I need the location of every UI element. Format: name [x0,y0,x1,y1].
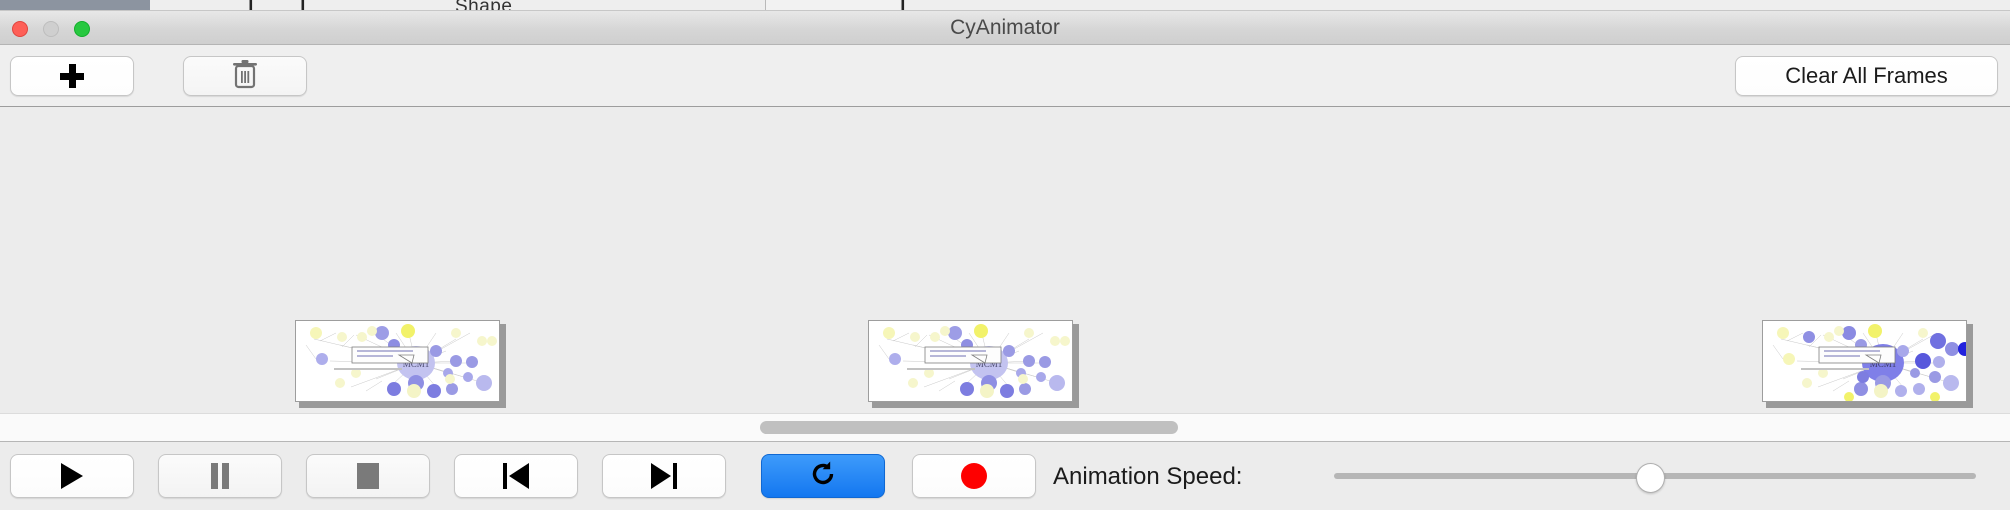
record-button[interactable] [912,454,1036,498]
delete-frame-button[interactable] [183,56,307,96]
loop-button[interactable] [761,454,885,498]
clear-all-frames-label: Clear All Frames [1785,63,1948,89]
scrollbar-thumb[interactable] [760,421,1178,434]
clear-all-frames-button[interactable]: Clear All Frames [1735,56,1998,96]
frame-thumbnail[interactable]: MCM1 [1762,320,1973,408]
add-frame-button[interactable] [10,56,134,96]
stop-icon [357,463,379,489]
playback-toolbar: Animation Speed: [0,441,2010,510]
loop-refresh-icon [808,459,838,494]
network-graph-preview: MCM1 [1763,321,1967,402]
play-icon [61,463,83,489]
stop-button[interactable] [306,454,430,498]
animation-speed-label: Animation Speed: [1053,442,1242,510]
skip-backward-icon [503,463,529,489]
skip-to-end-button[interactable] [602,454,726,498]
title-bar: CyAnimator [0,11,2010,45]
frame-thumbnail[interactable]: MCM1 [295,320,506,408]
trash-icon [232,59,258,94]
plus-icon [60,64,84,88]
pause-button[interactable] [158,454,282,498]
cyanimator-window: | | | Shape CyAnimator [0,0,2010,510]
pause-icon [210,463,230,489]
slider-thumb[interactable] [1636,463,1665,493]
network-graph-preview: MCM1 [869,321,1073,402]
skip-forward-icon [651,463,677,489]
background-window-strip: | | | Shape [0,0,2010,11]
toolbar: Clear All Frames [0,45,2010,107]
window-title: CyAnimator [0,11,2010,45]
thumbnail-image: MCM1 [868,320,1073,402]
frame-thumbnail[interactable]: MCM1 [868,320,1079,408]
thumbnail-image: MCM1 [295,320,500,402]
timeline-scrollbar[interactable] [0,413,2010,441]
timeline-panel[interactable]: MCM1 [0,107,2010,413]
network-graph-preview: MCM1 [296,321,500,402]
record-icon [961,463,987,489]
play-button[interactable] [10,454,134,498]
animation-speed-slider[interactable] [1334,442,1976,510]
thumbnail-image: MCM1 [1762,320,1967,402]
skip-to-start-button[interactable] [454,454,578,498]
